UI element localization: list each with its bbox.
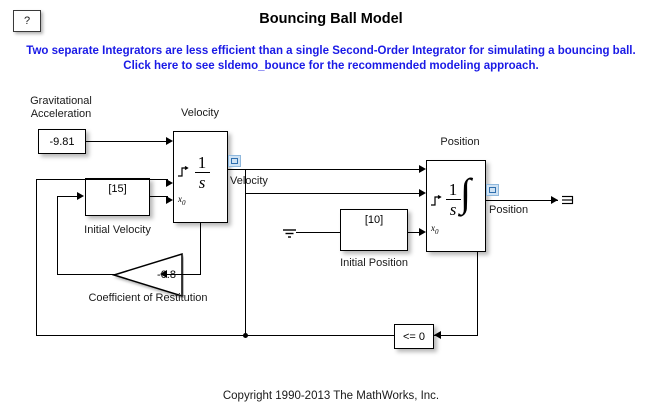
arrowhead: [419, 189, 426, 197]
gravity-label-line2: Acceleration: [16, 108, 106, 121]
wire-velocity-drop: [245, 169, 246, 194]
initial-position-label: Initial Position: [325, 257, 423, 270]
initial-velocity-label: Initial Velocity: [70, 224, 165, 237]
ground-icon[interactable]: [283, 228, 300, 239]
wire-velocity-to-position: [245, 169, 421, 170]
wire-gain-to-initial-velocity: [57, 196, 79, 197]
reset-trigger-icon: [430, 194, 444, 208]
wire-compare-output: [245, 335, 395, 336]
wire-gain-output: [57, 274, 115, 275]
arrowhead: [419, 165, 426, 173]
arrowhead: [551, 196, 558, 204]
reset-trigger-icon: [177, 165, 191, 179]
compare-to-zero-block[interactable]: <= 0: [394, 324, 434, 349]
signal-viewer-icon-position[interactable]: [486, 184, 499, 196]
gain-label: Coefficient of Restitution: [72, 292, 224, 305]
wire-initial-velocity-to-x0: [150, 196, 168, 197]
wire-gain-riser: [57, 196, 58, 275]
signal-viewer-icon-velocity[interactable]: [228, 155, 241, 167]
wire-velocity-down: [200, 223, 201, 275]
integral-sign-glyph: ∫: [460, 173, 471, 213]
terminator-icon[interactable]: [562, 193, 576, 207]
wire-position-to-terminator: [486, 200, 558, 201]
annotation-link-sldemo-bounce[interactable]: Click here to see sldemo_bounce for the …: [0, 60, 662, 72]
wire-reset-riser-left: [36, 179, 37, 336]
copyright-notice: Copyright 1990-2013 The MathWorks, Inc.: [0, 390, 662, 402]
wire-reset-to-velocity: [36, 179, 168, 180]
initial-position-block[interactable]: [10]: [340, 209, 408, 251]
position-block-label: Position: [410, 136, 510, 149]
position-integrator-block[interactable]: 1 s ∫ x0: [426, 160, 486, 252]
initial-condition-port-label: x0: [431, 223, 439, 236]
gravity-label-line1: Gravitational: [16, 95, 106, 108]
annotation-line-1[interactable]: Two separate Integrators are less effici…: [0, 45, 662, 57]
wire-ground-to-initial-position: [296, 232, 342, 233]
arrowhead: [419, 228, 426, 236]
wire-gravity-to-velocity: [86, 141, 168, 142]
arrowhead: [166, 137, 173, 145]
arrowhead: [160, 270, 167, 278]
page-title: Bouncing Ball Model: [0, 11, 662, 27]
wire-to-gain-input: [167, 274, 201, 275]
velocity-integrator-block[interactable]: 1 s x0: [173, 131, 228, 223]
wire-reset-bottom-left: [36, 335, 246, 336]
initial-condition-port-label: x0: [178, 194, 186, 207]
gravity-constant-block[interactable]: -9.81: [38, 129, 86, 154]
wire-reset-to-position: [245, 193, 421, 194]
arrowhead: [434, 331, 441, 339]
velocity-block-label: Velocity: [150, 107, 250, 120]
wire-position-down: [477, 252, 478, 336]
wire-reset-riser-position: [245, 193, 246, 336]
position-signal-label: Position: [489, 204, 528, 216]
simulink-model-canvas: ? Bouncing Ball Model Two separate Integ…: [0, 0, 662, 417]
initial-velocity-block[interactable]: [15]: [85, 178, 150, 216]
wire-velocity-out: [228, 169, 246, 170]
arrowhead: [77, 192, 84, 200]
one-over-s-glyph: 1 s: [192, 154, 212, 191]
velocity-signal-label: Velocity: [230, 175, 268, 187]
